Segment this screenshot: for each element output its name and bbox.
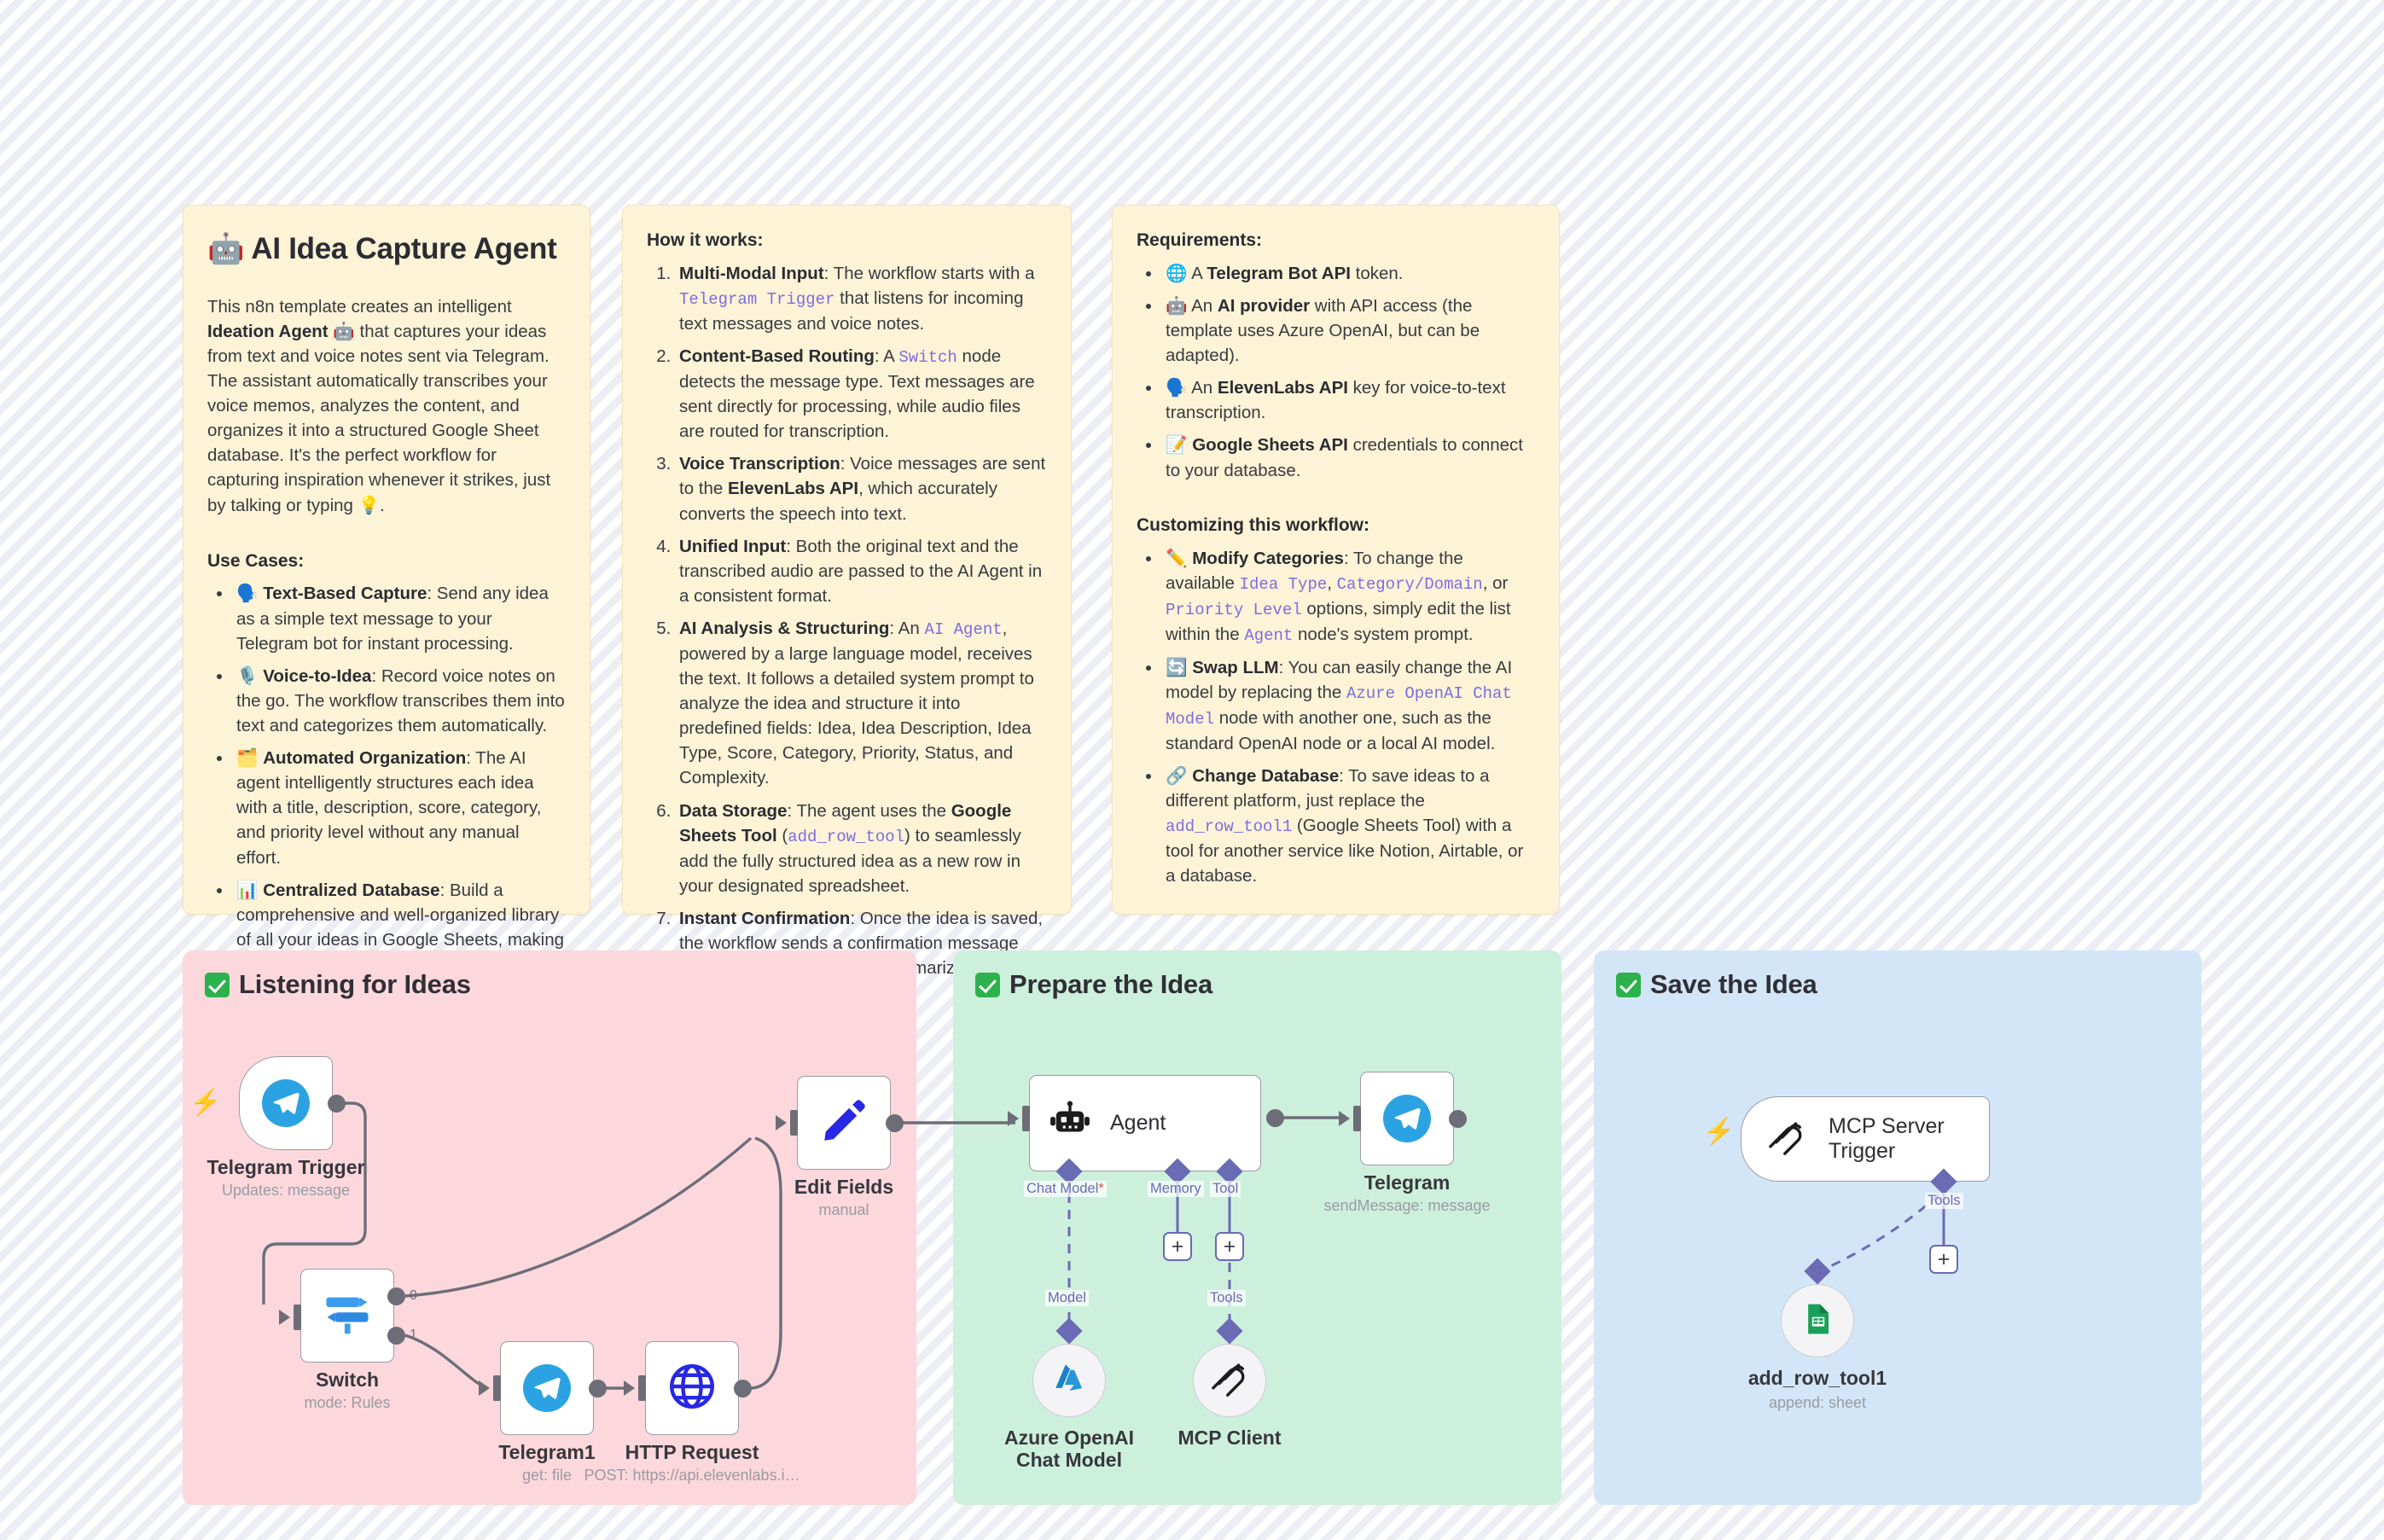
list-item: Multi-Modal Input: The workflow starts w… — [676, 261, 1047, 336]
req-pre: An — [1191, 378, 1218, 398]
robot-icon — [1049, 1100, 1091, 1147]
custom-label: Modify Categories — [1192, 549, 1344, 568]
node-title: Telegram Trigger — [207, 1156, 365, 1179]
requirements-list: 🌐 A Telegram Bot API token. 🤖 An AI prov… — [1162, 261, 1535, 483]
step-label: Multi-Modal Input — [679, 264, 824, 283]
howitworks-heading: How it works: — [647, 228, 1047, 253]
list-item: ✏️ Modify Categories: To change the avai… — [1162, 546, 1535, 648]
port-label-tools-mcp: Tools — [1925, 1193, 1963, 1209]
group-save-the-idea[interactable]: Save the Idea — [1594, 950, 2201, 1505]
input-port-arrow[interactable] — [638, 1375, 646, 1401]
node-subtitle: append: sheet — [1769, 1394, 1866, 1412]
usecases-heading: Use Cases: — [207, 549, 566, 574]
refresh-emoji-icon: 🔄 — [1166, 658, 1188, 677]
req-label: Telegram Bot API — [1207, 264, 1351, 283]
robot-emoji-icon: 🤖 — [1166, 296, 1188, 316]
globe-icon — [666, 1360, 718, 1417]
step-label: Voice Transcription — [679, 454, 840, 474]
usecase-label: Automated Organization — [263, 748, 466, 768]
mcp-icon — [1764, 1114, 1810, 1165]
requirements-heading: Requirements: — [1137, 228, 1535, 253]
node-subtitle: POST: https://api.elevenlabs.i… — [584, 1467, 800, 1485]
custom-sep-2: , or — [1483, 573, 1509, 593]
step-code: AI Agent — [924, 620, 1002, 639]
custom-code-1: Idea Type — [1240, 575, 1328, 594]
custom-code-4: Agent — [1244, 626, 1293, 645]
chart-emoji-icon: 📊 — [236, 880, 259, 900]
step-label: AI Analysis & Structuring — [679, 619, 889, 638]
node-title: MCP Client — [1148, 1427, 1311, 1449]
step-pre: : An — [889, 619, 924, 638]
list-item: 🎙️ Voice-to-Idea: Record voice notes on … — [233, 664, 566, 738]
list-item: 🗣️ An ElevenLabs API key for voice-to-te… — [1162, 375, 1535, 425]
check-mark-icon — [205, 973, 230, 997]
step-pre: : A — [875, 346, 899, 366]
port-label-model: Model — [1045, 1290, 1089, 1306]
telegram-icon — [262, 1079, 310, 1127]
req-pre: A — [1191, 264, 1207, 283]
custom-post: node with another one, such as the stand… — [1166, 708, 1495, 753]
step-label: Data Storage — [679, 801, 787, 821]
node-inline-title: Agent — [1110, 1111, 1166, 1136]
output-port-dot-0[interactable] — [387, 1287, 405, 1305]
node-subtitle: sendMessage: message — [1323, 1197, 1490, 1215]
output-port-dot[interactable] — [886, 1114, 904, 1132]
sticky-note-overview[interactable]: 🤖 AI Idea Capture Agent This n8n templat… — [183, 205, 590, 915]
node-title: Azure OpenAI Chat Model — [988, 1427, 1150, 1472]
add-memory-button[interactable]: + — [1163, 1232, 1192, 1261]
globe-emoji-icon: 🌐 — [1166, 264, 1188, 283]
step-pre: : The workflow starts with a — [824, 264, 1035, 283]
list-item: 🌐 A Telegram Bot API token. — [1162, 261, 1535, 286]
group-title-text: Listening for Ideas — [239, 969, 471, 1000]
trigger-bolt-icon: ⚡ — [189, 1090, 221, 1116]
step-label: Instant Confirmation — [679, 909, 850, 928]
overview-para-bold: Ideation Agent — [207, 322, 329, 341]
node-edit-fields[interactable]: Edit Fields manual — [797, 1076, 891, 1170]
node-subtitle: manual — [818, 1201, 869, 1219]
step-label: Unified Input — [679, 537, 786, 556]
step-bold2: ElevenLabs API — [728, 479, 858, 498]
speech-emoji-icon: 🗣️ — [1166, 378, 1188, 398]
pencil-emoji-icon: ✏️ — [1166, 549, 1188, 568]
port-label-tool: Tool — [1210, 1181, 1241, 1197]
port-label-memory: Memory — [1148, 1181, 1204, 1197]
sticky-note-requirements[interactable]: Requirements: 🌐 A Telegram Bot API token… — [1112, 205, 1560, 915]
req-label: ElevenLabs API — [1218, 378, 1348, 398]
overview-para-lead: This n8n template creates an intelligent — [207, 297, 512, 317]
node-title: add_row_tool1 — [1736, 1367, 1898, 1389]
google-sheets-icon — [1800, 1302, 1835, 1340]
group-title-prepare: Prepare the Idea — [975, 969, 1212, 1000]
folder-emoji-icon: 🗂️ — [236, 748, 259, 768]
step-code: add_row_tool — [788, 828, 904, 846]
node-telegram1[interactable]: Telegram1 get: file — [500, 1341, 594, 1435]
node-agent[interactable]: Agent — [1029, 1075, 1261, 1171]
node-title: Telegram1 — [498, 1441, 595, 1464]
req-label: Google Sheets API — [1192, 435, 1348, 455]
check-mark-icon — [975, 973, 1000, 997]
input-port-arrow[interactable] — [1022, 1106, 1030, 1131]
node-title: Telegram — [1364, 1171, 1451, 1194]
azure-icon — [1051, 1361, 1087, 1401]
group-prepare-the-idea[interactable]: Prepare the Idea — [953, 950, 1561, 1505]
port-label-tools: Tools — [1207, 1290, 1246, 1306]
howitworks-list: Multi-Modal Input: The workflow starts w… — [676, 261, 1047, 1006]
overview-paragraph: This n8n template creates an intelligent… — [207, 294, 566, 518]
speech-emoji-icon: 🗣️ — [236, 584, 259, 603]
telegram-icon — [1383, 1095, 1431, 1142]
custom-label: Change Database — [1192, 766, 1339, 786]
port-label-chat-model: Chat Model* — [1024, 1181, 1107, 1197]
list-item: Voice Transcription: Voice messages are … — [676, 451, 1047, 526]
step-pre: : The agent uses the — [787, 801, 951, 821]
custom-label: Swap LLM — [1192, 658, 1278, 677]
output-port-dot[interactable] — [589, 1380, 607, 1398]
add-tool-button[interactable]: + — [1215, 1232, 1244, 1261]
node-subtitle: get: file — [522, 1467, 572, 1485]
group-title-text: Prepare the Idea — [1009, 969, 1212, 1000]
output-index-0: 0 — [410, 1288, 417, 1304]
custom-code-1: add_row_tool1 — [1166, 817, 1292, 836]
list-item: 🤖 An AI provider with API access (the te… — [1162, 293, 1535, 368]
step-post: , powered by a large language model, rec… — [679, 619, 1034, 788]
node-http-request[interactable]: HTTP Request POST: https://api.elevenlab… — [645, 1341, 739, 1435]
list-item: 🗣️ Text-Based Capture: Send any idea as … — [233, 581, 566, 655]
usecases-list: 🗣️ Text-Based Capture: Send any idea as … — [233, 581, 566, 1002]
check-mark-icon — [1616, 973, 1641, 997]
switch-icon — [321, 1287, 374, 1345]
add-tool-button-mcp[interactable]: + — [1929, 1245, 1958, 1274]
node-title: Switch — [316, 1369, 379, 1392]
node-inline-title: MCP Server Trigger — [1829, 1114, 1948, 1165]
required-asterisk: * — [1098, 1181, 1103, 1196]
sticky-note-how-it-works[interactable]: How it works: Multi-Modal Input: The wor… — [622, 205, 1072, 915]
node-subtitle: Updates: message — [222, 1182, 350, 1200]
input-port-arrow[interactable] — [1353, 1106, 1361, 1131]
pencil-icon — [819, 1096, 869, 1150]
list-item: 🗂️ Automated Organization: The AI agent … — [233, 746, 566, 870]
step-label: Content-Based Routing — [679, 346, 875, 366]
req-post: token. — [1351, 264, 1404, 283]
custom-code-2: Category/Domain — [1337, 575, 1483, 594]
customizing-list: ✏️ Modify Categories: To change the avai… — [1162, 546, 1535, 889]
custom-sep-1: , — [1327, 573, 1336, 593]
input-port-arrow[interactable] — [294, 1305, 301, 1330]
node-title: Edit Fields — [794, 1176, 893, 1199]
microphone-emoji-icon: 🎙️ — [236, 666, 259, 686]
custom-code-3: Priority Level — [1166, 601, 1302, 619]
node-mcp-server-trigger[interactable]: MCP Server Trigger — [1741, 1096, 1990, 1182]
list-item: 🔄 Swap LLM: You can easily change the AI… — [1162, 655, 1535, 756]
output-port-dot[interactable] — [734, 1380, 752, 1398]
list-item: 🔗 Change Database: To save ideas to a di… — [1162, 764, 1535, 888]
page-title: 🤖 AI Idea Capture Agent — [207, 228, 566, 270]
step-code: Switch — [898, 348, 957, 367]
mcp-icon — [1207, 1356, 1253, 1406]
overview-para-rest: 🤖 that captures your ideas from text and… — [207, 322, 550, 515]
output-port-dot[interactable] — [1449, 1110, 1467, 1128]
req-label: AI provider — [1218, 296, 1310, 316]
step-mid: ( — [777, 826, 788, 846]
output-port-dot-1[interactable] — [387, 1327, 405, 1345]
port-label-text: Chat Model — [1026, 1181, 1098, 1196]
output-port-dot[interactable] — [328, 1095, 346, 1113]
group-title-listening: Listening for Ideas — [205, 969, 471, 1000]
group-title-text: Save the Idea — [1650, 969, 1817, 1000]
usecase-label: Voice-to-Idea — [263, 666, 371, 686]
link-emoji-icon: 🔗 — [1166, 766, 1188, 786]
req-pre: An — [1191, 296, 1218, 316]
usecase-label: Text-Based Capture — [263, 584, 427, 603]
custom-post: node's system prompt. — [1293, 625, 1473, 644]
node-azure-openai-chat-model[interactable]: Azure OpenAI Chat Model — [1032, 1344, 1106, 1417]
node-add-row-tool1[interactable]: add_row_tool1 append: sheet — [1781, 1284, 1854, 1357]
trigger-bolt-icon: ⚡ — [1703, 1119, 1735, 1145]
output-index-1: 1 — [410, 1328, 417, 1343]
node-title: HTTP Request — [625, 1441, 759, 1464]
list-item: Data Storage: The agent uses the Google … — [676, 799, 1047, 898]
list-item: Content-Based Routing: A Switch node det… — [676, 344, 1047, 444]
robot-emoji-icon: 🤖 — [207, 232, 244, 265]
node-mcp-client[interactable]: MCP Client — [1193, 1344, 1266, 1417]
node-subtitle: mode: Rules — [304, 1394, 390, 1412]
list-item: AI Analysis & Structuring: An AI Agent, … — [676, 616, 1047, 791]
node-switch[interactable]: Switch mode: Rules — [300, 1269, 394, 1363]
overview-title-text: AI Idea Capture Agent — [251, 232, 556, 265]
group-title-save: Save the Idea — [1616, 969, 1817, 1000]
telegram-icon — [523, 1364, 571, 1412]
customizing-heading: Customizing this workflow: — [1137, 513, 1535, 538]
node-telegram[interactable]: Telegram sendMessage: message — [1360, 1072, 1454, 1165]
input-port-arrow[interactable] — [493, 1375, 501, 1401]
node-telegram-trigger[interactable]: Telegram Trigger Updates: message — [239, 1056, 333, 1150]
list-item: Unified Input: Both the original text an… — [676, 534, 1047, 608]
list-item: 📝 Google Sheets API credentials to conne… — [1162, 433, 1535, 482]
output-port-dot[interactable] — [1266, 1109, 1284, 1127]
memo-emoji-icon: 📝 — [1166, 435, 1188, 455]
input-port-arrow[interactable] — [790, 1110, 798, 1136]
usecase-label: Centralized Database — [263, 880, 439, 900]
step-code: Telegram Trigger — [679, 290, 834, 309]
